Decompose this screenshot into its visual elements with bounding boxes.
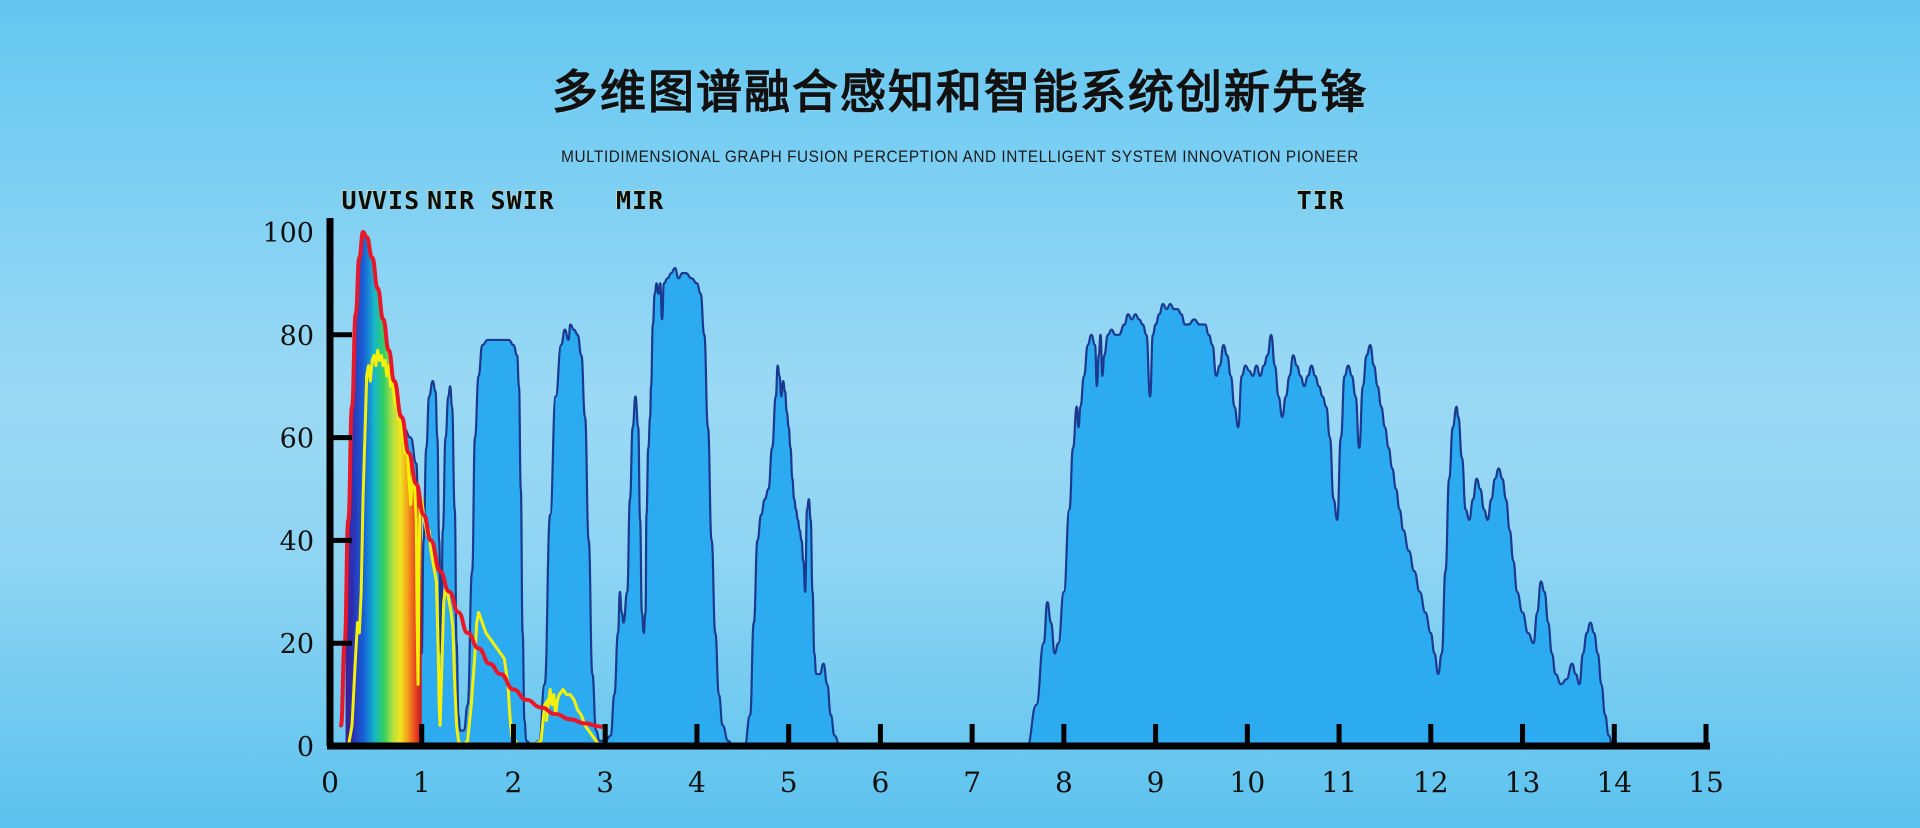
banner-root: 多维图谱融合感知和智能系统创新先锋 MULTIDIMENSIONAL GRAPH… bbox=[0, 0, 1920, 828]
x-tick-label-6: 6 bbox=[871, 766, 889, 799]
x-tick-label-3: 3 bbox=[596, 766, 614, 799]
x-tick-label-1: 1 bbox=[413, 766, 431, 799]
x-tick-label-15: 15 bbox=[1688, 766, 1724, 799]
band-label-vis: VIS bbox=[372, 186, 420, 215]
y-tick-label-40: 40 bbox=[280, 526, 314, 557]
page-subtitle: MULTIDIMENSIONAL GRAPH FUSION PERCEPTION… bbox=[67, 148, 1853, 167]
y-tick-label-60: 60 bbox=[280, 424, 314, 455]
x-tick-label-4: 4 bbox=[688, 766, 706, 799]
x-tick-label-5: 5 bbox=[780, 766, 798, 799]
x-tick-label-0: 0 bbox=[321, 766, 339, 799]
x-tick-label-12: 12 bbox=[1413, 766, 1449, 799]
band-label-tir: TIR bbox=[1297, 186, 1345, 215]
y-tick-label-0: 0 bbox=[297, 732, 314, 763]
x-tick-label-7: 7 bbox=[963, 766, 981, 799]
band-label-nir: NIR bbox=[427, 186, 475, 215]
x-tick-label-8: 8 bbox=[1055, 766, 1073, 799]
x-tick-label-14: 14 bbox=[1596, 766, 1632, 799]
band-label-swir: SWIR bbox=[491, 186, 555, 215]
x-tick-label-9: 9 bbox=[1147, 766, 1165, 799]
y-tick-label-100: 100 bbox=[262, 218, 314, 249]
spectrum-plot-svg: 0204060801000123456789101112131415 bbox=[0, 200, 1920, 828]
band-label-mir: MIR bbox=[616, 186, 664, 215]
spectrum-chart: UVVISNIRSWIRMIRTIR bbox=[0, 200, 1920, 828]
x-tick-label-11: 11 bbox=[1321, 766, 1357, 799]
x-tick-label-13: 13 bbox=[1505, 766, 1541, 799]
atmospheric-transmission-area bbox=[330, 268, 1706, 746]
x-tick-label-10: 10 bbox=[1230, 766, 1266, 799]
band-label-uv: UV bbox=[341, 186, 373, 215]
y-tick-label-80: 80 bbox=[280, 321, 314, 352]
page-title: 多维图谱融合感知和智能系统创新先锋 bbox=[0, 56, 1920, 122]
y-tick-label-20: 20 bbox=[280, 629, 314, 660]
atmospheric-transmission-path bbox=[330, 268, 1706, 746]
x-tick-label-2: 2 bbox=[505, 766, 523, 799]
